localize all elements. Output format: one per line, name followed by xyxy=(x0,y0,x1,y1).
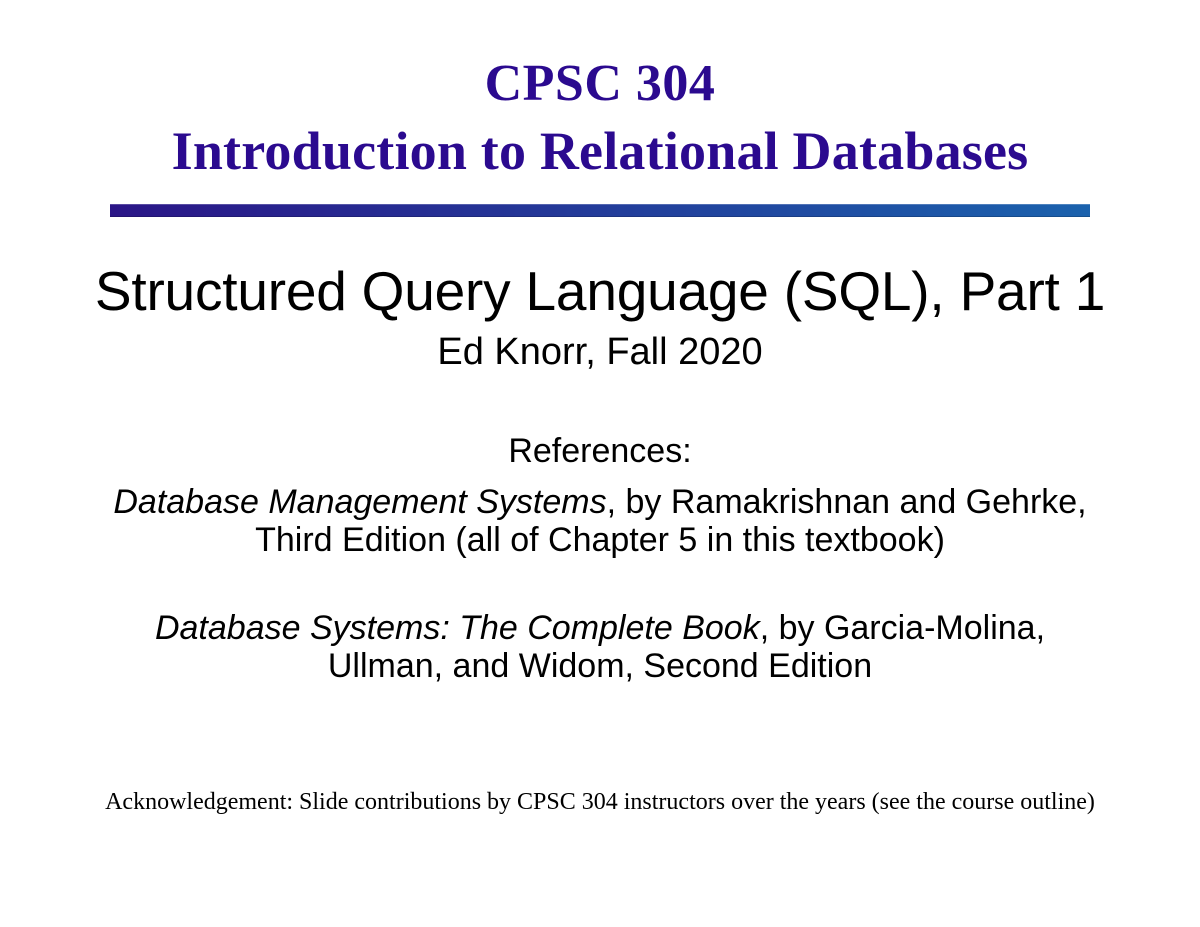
slide-author: Ed Knorr, Fall 2020 xyxy=(0,331,1200,374)
acknowledgement-note: Acknowledgement: Slide contributions by … xyxy=(0,788,1200,817)
slide-body-heading: Structured Query Language (SQL), Part 1 … xyxy=(0,262,1200,374)
slide-canvas: CPSC 304 Introduction to Relational Data… xyxy=(0,0,1200,927)
slide-title: CPSC 304 Introduction to Relational Data… xyxy=(0,58,1200,178)
reference-entry-2-title: Database Systems: The Complete Book xyxy=(155,609,760,647)
reference-entry-1-title: Database Management Systems xyxy=(113,483,606,521)
slide-title-line-2: Introduction to Relational Databases xyxy=(0,124,1200,178)
title-divider xyxy=(110,204,1090,217)
slide-title-line-1: CPSC 304 xyxy=(0,58,1200,110)
reference-entry-1: Database Management Systems, by Ramakris… xyxy=(95,483,1105,559)
references-heading: References: xyxy=(0,432,1200,471)
reference-entry-2: Database Systems: The Complete Book, by … xyxy=(95,609,1105,685)
title-divider-gradient-bar xyxy=(110,204,1090,217)
references-section: References: Database Management Systems,… xyxy=(0,432,1200,685)
slide-subtitle: Structured Query Language (SQL), Part 1 xyxy=(0,262,1200,321)
